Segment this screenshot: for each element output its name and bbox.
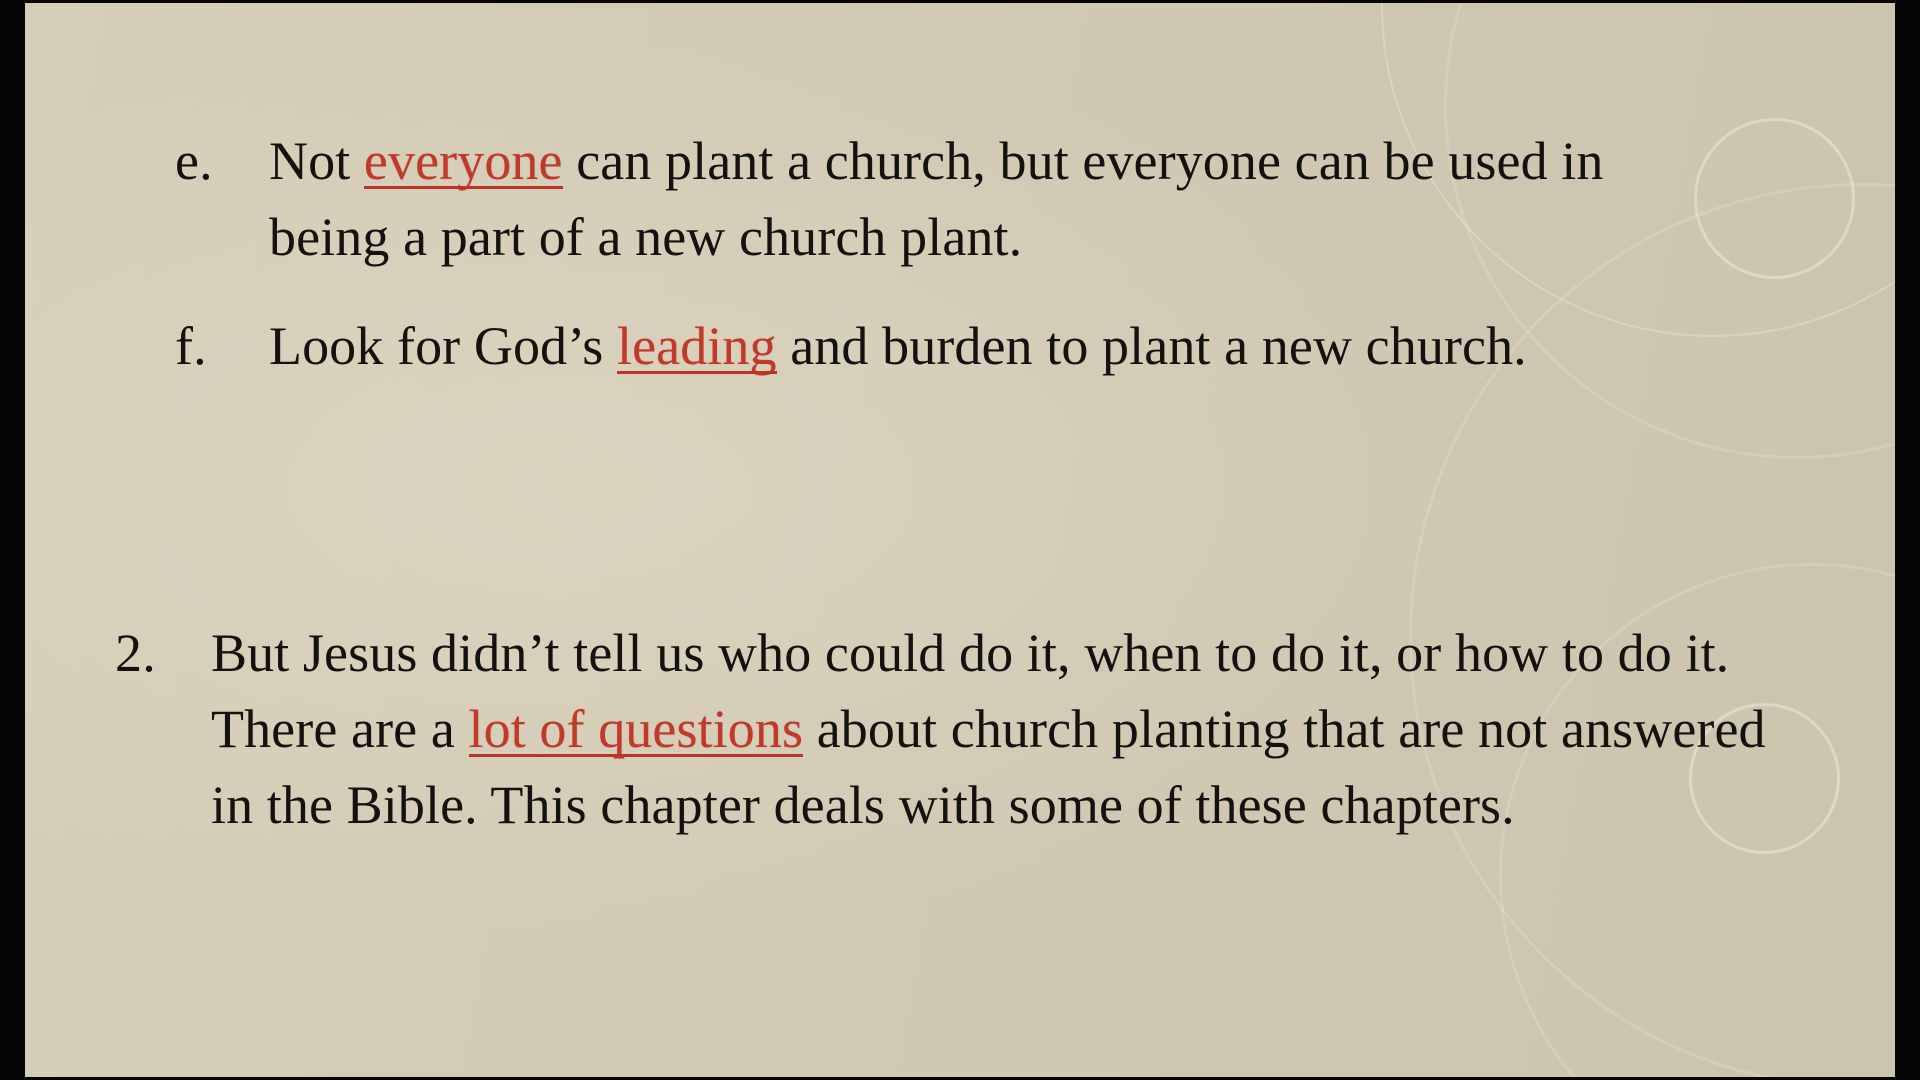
body-text-run: and burden to plant a new church. bbox=[777, 316, 1527, 376]
slide-body: e. Not everyone can plant a church, but … bbox=[25, 3, 1895, 1077]
outline-item-f: f. Look for God’s leading and burden to … bbox=[175, 308, 1765, 384]
outline-text-e: Not everyone can plant a church, but eve… bbox=[269, 123, 1729, 275]
highlighted-phrase: leading bbox=[617, 316, 777, 376]
body-text-run: Not bbox=[269, 131, 364, 191]
body-text-run: Look for God’s bbox=[269, 316, 617, 376]
outline-marker-2: 2. bbox=[115, 615, 211, 691]
slide-frame: e. Not everyone can plant a church, but … bbox=[0, 0, 1920, 1080]
highlighted-phrase: everyone bbox=[364, 131, 563, 191]
outline-marker-f: f. bbox=[175, 308, 269, 384]
highlighted-phrase: lot of questions bbox=[469, 699, 804, 759]
outline-item-2: 2. But Jesus didn’t tell us who could do… bbox=[115, 615, 1795, 843]
outline-text-2: But Jesus didn’t tell us who could do it… bbox=[211, 615, 1791, 843]
outline-item-e: e. Not everyone can plant a church, but … bbox=[175, 123, 1765, 275]
outline-text-f: Look for God’s leading and burden to pla… bbox=[269, 308, 1729, 384]
outline-marker-e: e. bbox=[175, 123, 269, 199]
slide-canvas: e. Not everyone can plant a church, but … bbox=[25, 3, 1895, 1077]
